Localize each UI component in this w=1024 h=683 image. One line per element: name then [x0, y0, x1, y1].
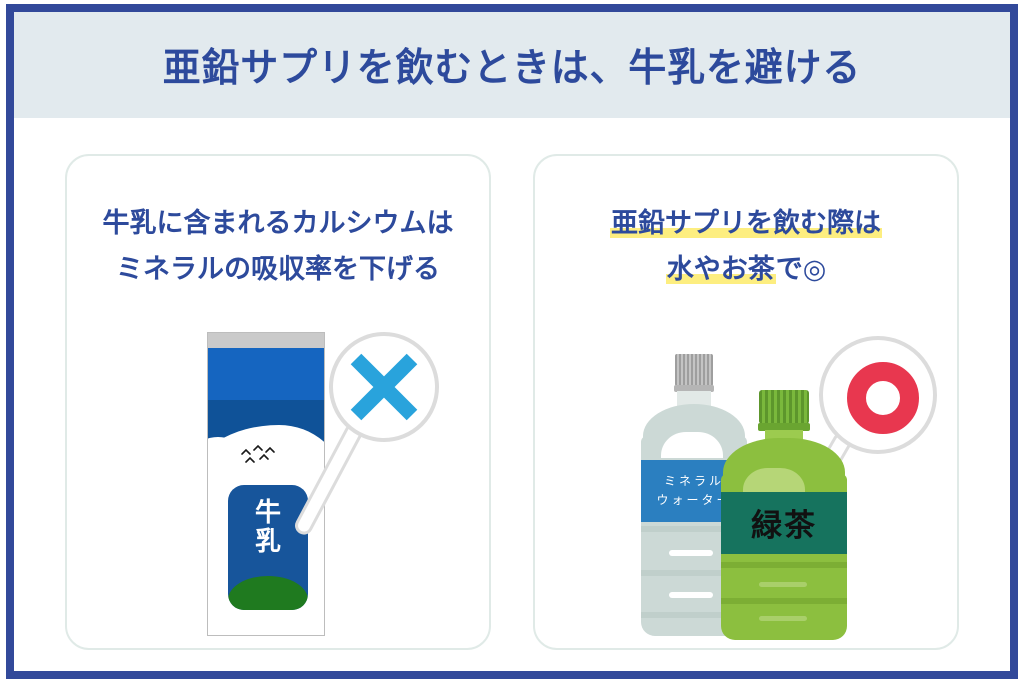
tea-bottle-label: 緑茶	[721, 492, 847, 554]
drinks-illustration: ミネラル ウォーター	[535, 326, 957, 646]
card-milk-warning: 牛乳に含まれるカルシウムは ミネラルの吸収率を下げる	[65, 154, 491, 650]
bottles-group: ミネラル ウォーター	[631, 328, 881, 646]
magnifier-lens	[329, 332, 439, 442]
tea-bottle-label-text: 緑茶	[721, 500, 847, 545]
card-drinks-heading-line-2-tail: で◎	[776, 254, 827, 284]
card-drinks-heading-line-1: 亜鉛サプリを飲む際は	[535, 200, 957, 246]
card-recommended-drinks: 亜鉛サプリを飲む際は 水やお茶で◎	[533, 154, 959, 650]
card-drinks-heading-line-1-highlight: 亜鉛サプリを飲む際は	[610, 208, 882, 238]
header-banner: 亜鉛サプリを飲むときは、牛乳を避ける	[14, 12, 1010, 118]
water-bottle-dash-2	[669, 592, 713, 598]
cross-mark-icon	[344, 347, 424, 427]
carton-label-hill	[228, 576, 308, 610]
tea-bottle-dash-2	[759, 616, 807, 621]
card-drinks-heading: 亜鉛サプリを飲む際は 水やお茶で◎	[535, 200, 957, 293]
birds-icon	[240, 445, 296, 467]
card-drinks-heading-line-2-highlight: 水やお茶	[666, 254, 776, 284]
milk-illustration: 牛 乳	[67, 326, 489, 646]
tea-bottle-dash-1	[759, 582, 807, 587]
card-milk-heading-line-2: ミネラルの吸収率を下げる	[67, 246, 489, 292]
milk-carton-group: 牛 乳	[195, 326, 365, 646]
infographic-frame: 亜鉛サプリを飲むときは、牛乳を避ける 牛乳に含まれるカルシウムは ミネラルの吸収…	[6, 4, 1018, 679]
tea-bottle-band-2	[721, 598, 847, 604]
card-milk-heading-line-1: 牛乳に含まれるカルシウムは	[67, 200, 489, 246]
tea-bottle-band-1	[721, 562, 847, 568]
green-tea-bottle: 緑茶	[721, 390, 847, 642]
card-milk-heading: 牛乳に含まれるカルシウムは ミネラルの吸収率を下げる	[67, 200, 489, 293]
milk-carton-label: 牛 乳	[228, 485, 308, 610]
carton-label-char-2: 乳	[228, 528, 308, 557]
water-bottle-dash-1	[669, 550, 713, 556]
magnifier-cross	[303, 332, 443, 562]
card-row: 牛乳に含まれるカルシウムは ミネラルの吸収率を下げる	[14, 118, 1010, 671]
magnifier-handle	[292, 420, 366, 538]
tea-bottle-cap	[759, 390, 809, 424]
card-drinks-heading-line-2: 水やお茶で◎	[535, 246, 957, 292]
page-title: 亜鉛サプリを飲むときは、牛乳を避ける	[163, 37, 861, 93]
water-bottle-cap	[675, 354, 713, 386]
circle-mark-icon	[847, 362, 919, 434]
